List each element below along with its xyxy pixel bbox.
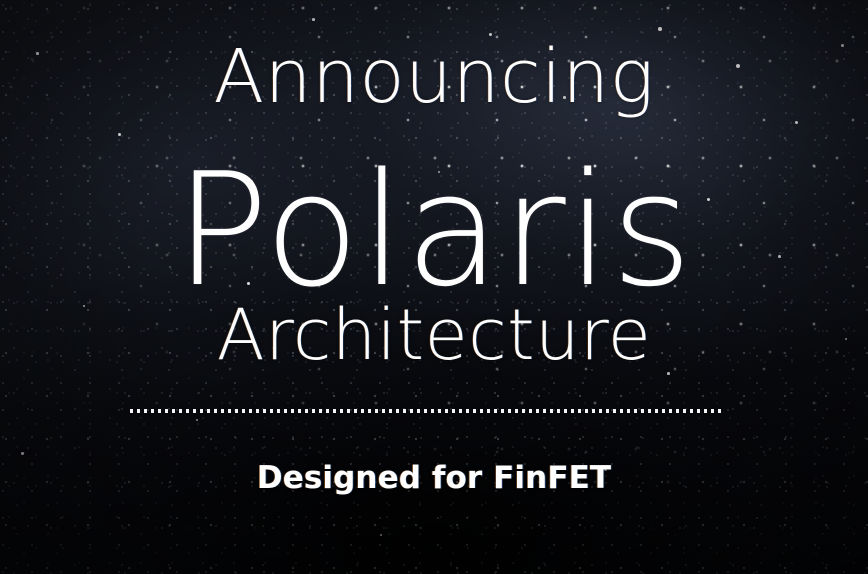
dotted-divider xyxy=(130,409,722,413)
slide-content: Announcing Polaris Architecture Designed… xyxy=(0,0,868,574)
slide-title: Polaris xyxy=(0,152,868,308)
slide-tagline: Designed for FinFET xyxy=(0,461,868,495)
slide-subtitle: Architecture xyxy=(0,300,868,370)
slide-eyebrow: Announcing xyxy=(0,40,868,114)
presentation-slide: Announcing Polaris Architecture Designed… xyxy=(0,0,868,574)
